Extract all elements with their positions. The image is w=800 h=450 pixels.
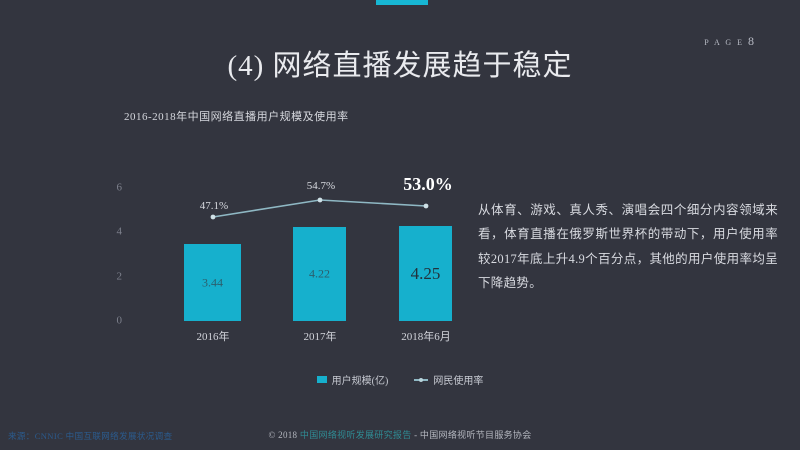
presentation-slide: P A G E 8 (4) 网络直播发展趋于稳定 2016-2018年中国网络直… <box>0 0 800 450</box>
bar-swatch-icon <box>317 376 327 383</box>
y-axis-tick: 2 <box>117 272 123 283</box>
line-swatch-icon <box>414 376 428 383</box>
line-point-2017 <box>318 198 323 203</box>
copyright-prefix: © 2018 <box>268 430 299 440</box>
chart-container: 6 4 2 0 3.44 4.22 4.25 2016年 2017年 2018年… <box>100 160 470 390</box>
footer-copyright: © 2018 中国网络视听发展研究报告 - 中国网络视听节目服务协会 <box>0 428 800 441</box>
commentary-text: 从体育、游戏、真人秀、演唱会四个细分内容领域来看，体育直播在俄罗斯世界杯的带动下… <box>478 198 778 296</box>
usage-rate-line[interactable] <box>132 160 470 335</box>
y-axis-tick: 6 <box>117 183 123 194</box>
y-axis: 6 4 2 0 <box>100 160 128 335</box>
line-point-2016 <box>211 215 216 220</box>
page-title: (4) 网络直播发展趋于稳定 <box>0 42 800 84</box>
y-axis-tick: 4 <box>117 227 123 238</box>
top-accent-bar <box>376 0 428 5</box>
legend-item-user-scale[interactable]: 用户规模(亿) <box>317 372 389 387</box>
y-axis-tick: 0 <box>117 316 123 327</box>
line-path <box>213 200 426 217</box>
legend-label: 用户规模(亿) <box>332 372 389 387</box>
chart-title: 2016-2018年中国网络直播用户规模及使用率 <box>124 108 349 124</box>
copyright-suffix: - 中国网络视听节目服务协会 <box>412 430 532 440</box>
chart-legend: 用户规模(亿) 网民使用率 <box>0 372 800 387</box>
line-point-2018-06 <box>424 204 429 209</box>
legend-label: 网民使用率 <box>433 372 483 387</box>
copyright-report-name: 中国网络视听发展研究报告 <box>300 430 412 440</box>
legend-item-usage-rate[interactable]: 网民使用率 <box>414 372 483 387</box>
